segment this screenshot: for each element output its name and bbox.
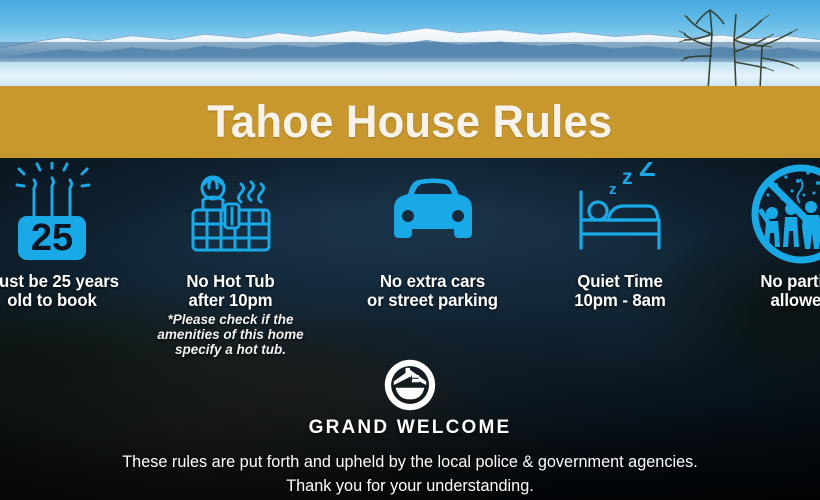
rules-row: 25 Must be 25 years old to book: [0, 160, 820, 335]
brand-wordmark: GRAND WELCOME: [309, 417, 512, 439]
footer-disclaimer: These rules are put forth and upheld by …: [0, 450, 820, 498]
title-banner: Tahoe House Rules: [0, 86, 820, 158]
rule-icon-wrap: [128, 160, 333, 268]
no-parties-icon: [746, 161, 820, 267]
birthday-cake-25-icon: 25: [0, 162, 104, 266]
rule-icon-wrap: [330, 160, 535, 268]
age-badge-text: 25: [31, 217, 73, 259]
lake-tahoe-mountains-photo: [0, 0, 820, 88]
footer-line-1: These rules are put forth and upheld by …: [6, 450, 814, 474]
tahoe-house-rules-poster: Tahoe House Rules 25 Must be 25 years ol…: [0, 0, 820, 500]
rule-icon-wrap: [706, 160, 820, 268]
rule-item-parking: No extra cars or street parking: [330, 160, 535, 310]
rule-label-hottub: No Hot Tub after 10pm: [132, 272, 329, 310]
rule-note-hottub: *Please check if the amenities of this h…: [128, 312, 333, 357]
rule-icon-wrap: z z Z: [520, 160, 720, 268]
grand-welcome-house-logo-icon: [383, 358, 437, 412]
car-front-icon: [378, 162, 488, 266]
brand-logo: GRAND WELCOME: [0, 358, 820, 439]
rule-item-parties: No parties allowed: [706, 160, 820, 310]
svg-text:z: z: [609, 181, 617, 198]
rule-item-quiet: z z Z Quiet Time 10pm - 8am: [520, 160, 720, 310]
rule-label-parties: No parties allowed: [710, 272, 820, 310]
footer-line-2: Thank you for your understanding.: [6, 474, 814, 498]
car-headlight-left: [402, 210, 414, 222]
car-headlight-right: [452, 210, 464, 222]
sleeping-bed-zzz-icon: z z Z: [565, 162, 675, 266]
svg-text:Z: Z: [639, 162, 656, 182]
hot-tub-icon: [179, 162, 283, 266]
svg-text:z: z: [622, 166, 633, 189]
page-title: Tahoe House Rules: [207, 96, 612, 148]
rule-label-quiet: Quiet Time 10pm - 8am: [524, 272, 716, 310]
pine-branch-icon: [650, 0, 800, 88]
rule-item-hottub: No Hot Tub after 10pm *Please check if t…: [128, 160, 333, 357]
zzz-letters: z z Z: [609, 162, 656, 198]
rule-label-parking: No extra cars or street parking: [334, 272, 531, 310]
